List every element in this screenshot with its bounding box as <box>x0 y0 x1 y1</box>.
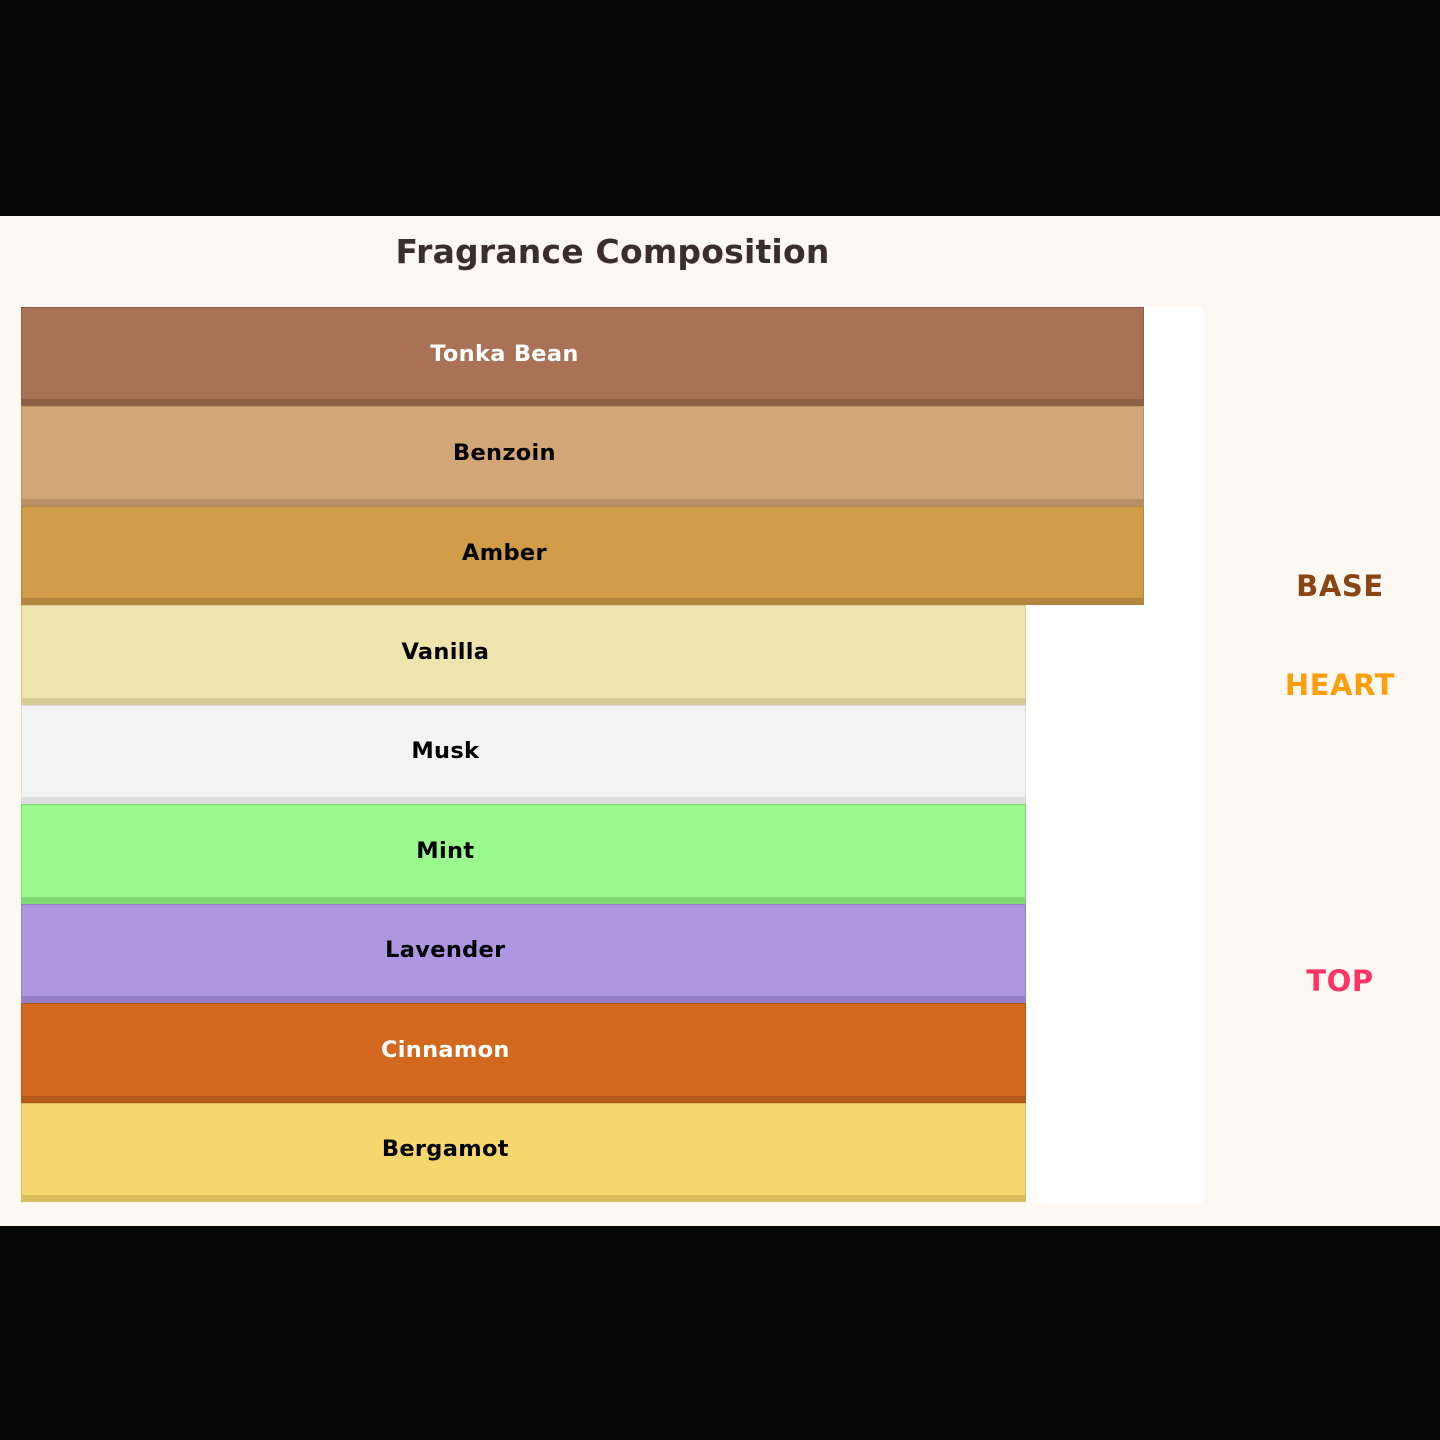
bar-amber[interactable]: Amber <box>21 506 1144 605</box>
bar-vanilla[interactable]: Vanilla <box>21 605 1026 704</box>
bar-row: Benzoin <box>21 406 1203 505</box>
bar-row: Lavender <box>21 904 1203 1003</box>
bar-mint[interactable]: Mint <box>21 804 1026 903</box>
bar-tonka-bean[interactable]: Tonka Bean <box>21 307 1144 406</box>
plot-area: Tonka BeanBenzoinAmberVanillaMuskMintLav… <box>21 307 1203 1202</box>
bar-label: Musk <box>411 738 479 764</box>
family-label-heart: HEART <box>1250 668 1430 702</box>
bar-label: Vanilla <box>401 639 489 665</box>
bar-label: Mint <box>416 838 474 864</box>
bar-musk[interactable]: Musk <box>21 705 1026 804</box>
bar-label: Benzoin <box>453 440 556 466</box>
bar-label: Lavender <box>385 937 505 963</box>
bar-row: Cinnamon <box>21 1003 1203 1102</box>
family-label-base: BASE <box>1250 569 1430 603</box>
bar-benzoin[interactable]: Benzoin <box>21 406 1144 505</box>
bar-row: Tonka Bean <box>21 307 1203 406</box>
family-label-top: TOP <box>1250 964 1430 998</box>
bar-row: Vanilla <box>21 605 1203 704</box>
bar-row: Mint <box>21 804 1203 903</box>
bar-row: Musk <box>21 705 1203 804</box>
page-title: Fragrance Composition <box>0 232 1225 271</box>
bar-lavender[interactable]: Lavender <box>21 904 1026 1003</box>
bar-label: Cinnamon <box>381 1037 510 1063</box>
bar-bergamot[interactable]: Bergamot <box>21 1103 1026 1202</box>
bar-label: Bergamot <box>382 1136 509 1162</box>
bar-row: Amber <box>21 506 1203 605</box>
bar-row: Bergamot <box>21 1103 1203 1202</box>
bar-cinnamon[interactable]: Cinnamon <box>21 1003 1026 1102</box>
chart-figure: Fragrance Composition Tonka BeanBenzoinA… <box>0 216 1440 1226</box>
bar-label: Tonka Bean <box>430 341 578 367</box>
bar-label: Amber <box>462 540 547 566</box>
